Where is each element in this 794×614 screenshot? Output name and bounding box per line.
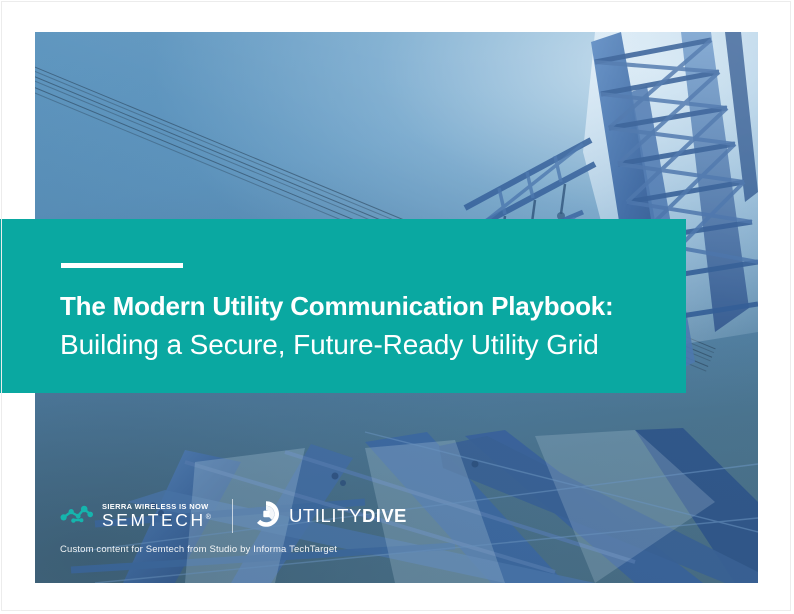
utility-dive-word-utility: UTILITY xyxy=(289,505,362,526)
cover-title: The Modern Utility Communication Playboo… xyxy=(60,287,662,365)
utility-dive-word-dive: DIVE xyxy=(362,505,407,526)
semtech-logo: SIERRA WIRELESS IS NOW SEMTECH® xyxy=(60,503,211,530)
cover-page: The Modern Utility Communication Playboo… xyxy=(0,0,794,614)
semtech-eyebrow-text: SIERRA WIRELESS IS NOW xyxy=(102,503,211,511)
vertical-divider xyxy=(232,499,233,533)
semtech-wordmark: SIERRA WIRELESS IS NOW SEMTECH® xyxy=(102,503,211,530)
network-nodes-icon xyxy=(60,503,94,530)
semtech-name: SEMTECH® xyxy=(102,512,211,530)
utility-dive-logo: UTILITYDIVE xyxy=(252,500,407,533)
title-banner: The Modern Utility Communication Playboo… xyxy=(0,219,686,393)
utilitydive-circle-icon xyxy=(252,500,280,533)
utility-dive-wordmark: UTILITYDIVE xyxy=(289,505,407,527)
cover-caption: Custom content for Semtech from Studio b… xyxy=(60,544,337,555)
semtech-trademark: ® xyxy=(206,514,211,521)
title-line-primary: The Modern Utility Communication Playboo… xyxy=(60,287,662,325)
logo-lockup: SIERRA WIRELESS IS NOW SEMTECH® UTILITYD… xyxy=(60,496,407,536)
title-line-secondary: Building a Secure, Future-Ready Utility … xyxy=(60,325,662,365)
title-rule xyxy=(61,263,183,268)
semtech-name-text: SEMTECH xyxy=(102,510,206,530)
